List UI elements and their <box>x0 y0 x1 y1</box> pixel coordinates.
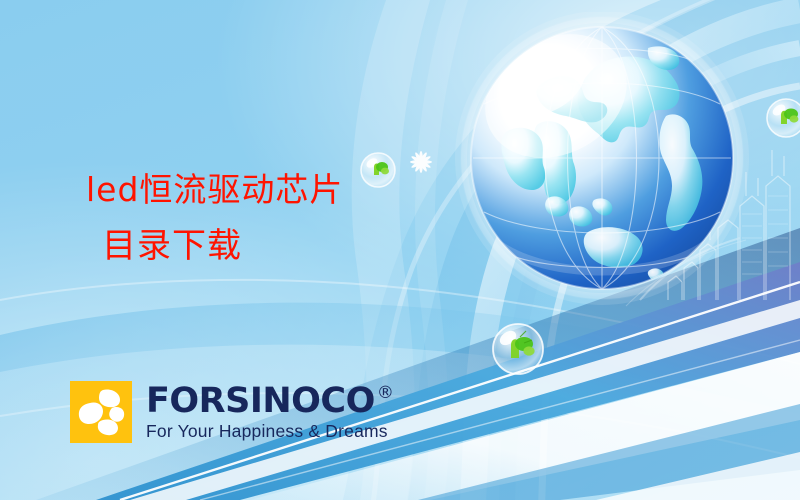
bubble-leaf-icon-bottom <box>493 324 543 374</box>
globe-grid <box>471 27 733 289</box>
four-petal-flower-icon <box>70 381 132 443</box>
bubble-leaf-icon-right <box>767 99 800 137</box>
registered-trademark-icon: ® <box>377 385 394 402</box>
headline-block: led恒流驱动芯片 目录下载 <box>86 162 506 274</box>
city-skyline-icon <box>626 150 790 306</box>
headline-line-1: led恒流驱动芯片 <box>86 162 506 218</box>
company-logo: FORSINOCO ® For Your Happiness & Dreams <box>70 381 394 443</box>
headline-line-2: 目录下载 <box>86 218 506 274</box>
logo-text-block: FORSINOCO ® For Your Happiness & Dreams <box>146 384 394 441</box>
continents <box>501 46 702 282</box>
promo-banner: led恒流驱动芯片 目录下载 FORSINOCO ® For Your Happ… <box>0 0 800 500</box>
brand-name: FORSINOCO <box>146 384 375 418</box>
brand-tagline: For Your Happiness & Dreams <box>146 421 394 441</box>
brand-row: FORSINOCO ® <box>146 384 394 418</box>
skyline-grid-detail <box>742 196 788 274</box>
